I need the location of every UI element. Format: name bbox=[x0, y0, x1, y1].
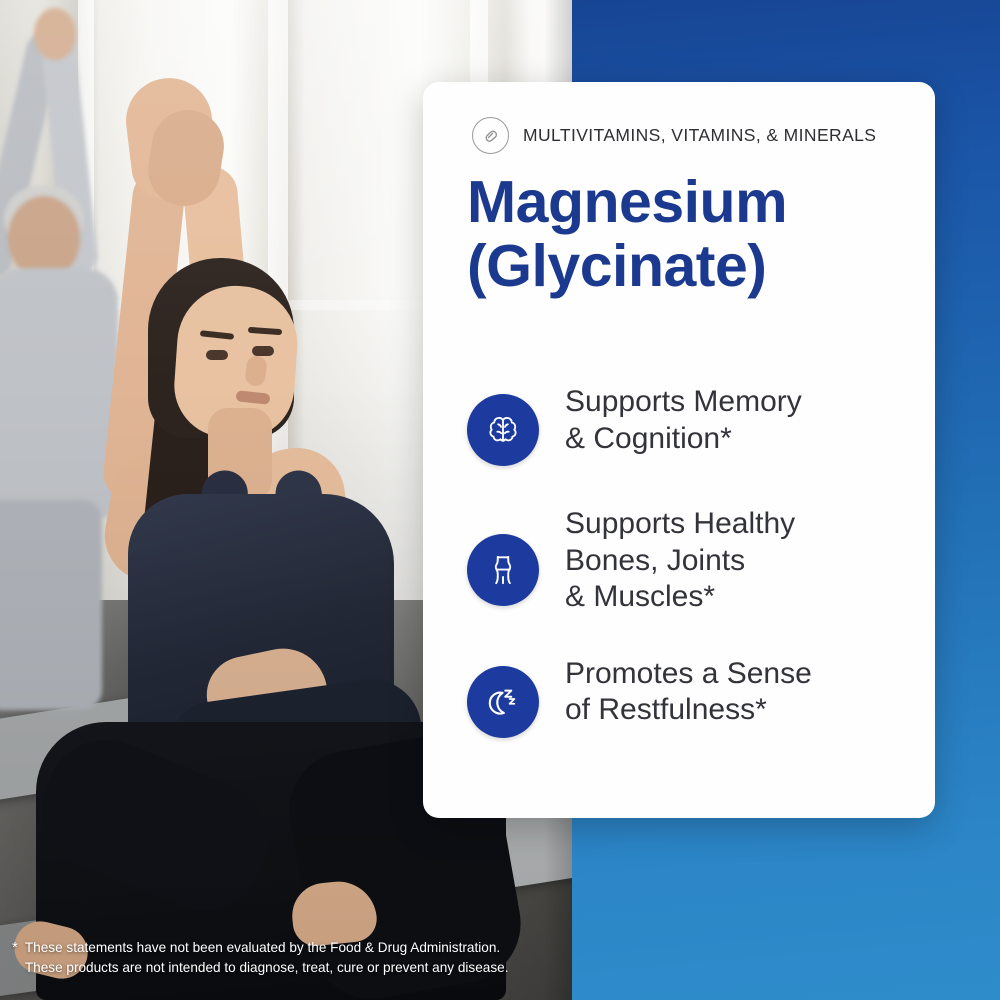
benefits-list: Supports Memory & Cognition* Supports He… bbox=[467, 382, 917, 738]
product-info-card: MULTIVITAMINS, VITAMINS, & MINERALS Magn… bbox=[423, 82, 935, 818]
title-line-1: Magnesium bbox=[467, 171, 907, 235]
benefit-line: of Restfulness* bbox=[565, 692, 812, 729]
disclaimer-asterisk: * bbox=[12, 938, 18, 958]
moon-sleep-icon bbox=[467, 666, 539, 738]
disclaimer-text: These statements have not been evaluated… bbox=[25, 938, 509, 979]
benefit-item-restfulness: Promotes a Sense of Restfulness* bbox=[467, 654, 917, 738]
benefit-line: Supports Healthy bbox=[565, 506, 795, 543]
benefit-text: Promotes a Sense of Restfulness* bbox=[565, 654, 812, 729]
benefit-text: Supports Memory & Cognition* bbox=[565, 382, 802, 457]
benefit-line: & Muscles* bbox=[565, 579, 795, 616]
disclaimer-line-2: These products are not intended to diagn… bbox=[25, 958, 509, 978]
disclaimer-line-1: These statements have not been evaluated… bbox=[25, 938, 509, 958]
fda-disclaimer: * These statements have not been evaluat… bbox=[12, 938, 572, 979]
category-row: MULTIVITAMINS, VITAMINS, & MINERALS bbox=[472, 117, 876, 154]
page-title: Magnesium (Glycinate) bbox=[467, 171, 907, 298]
benefit-text: Supports Healthy Bones, Joints & Muscles… bbox=[565, 504, 795, 616]
product-benefit-graphic: MULTIVITAMINS, VITAMINS, & MINERALS Magn… bbox=[0, 0, 1000, 1000]
benefit-item-memory: Supports Memory & Cognition* bbox=[467, 382, 917, 466]
pill-capsule-icon bbox=[472, 117, 509, 154]
benefit-line: & Cognition* bbox=[565, 421, 802, 458]
benefit-line: Promotes a Sense bbox=[565, 656, 812, 693]
category-label: MULTIVITAMINS, VITAMINS, & MINERALS bbox=[523, 125, 876, 146]
title-line-2: (Glycinate) bbox=[467, 235, 907, 299]
brain-icon bbox=[467, 394, 539, 466]
bone-joint-icon bbox=[467, 534, 539, 606]
benefit-item-bones-joints: Supports Healthy Bones, Joints & Muscles… bbox=[467, 504, 917, 616]
benefit-line: Supports Memory bbox=[565, 384, 802, 421]
benefit-line: Bones, Joints bbox=[565, 543, 795, 580]
